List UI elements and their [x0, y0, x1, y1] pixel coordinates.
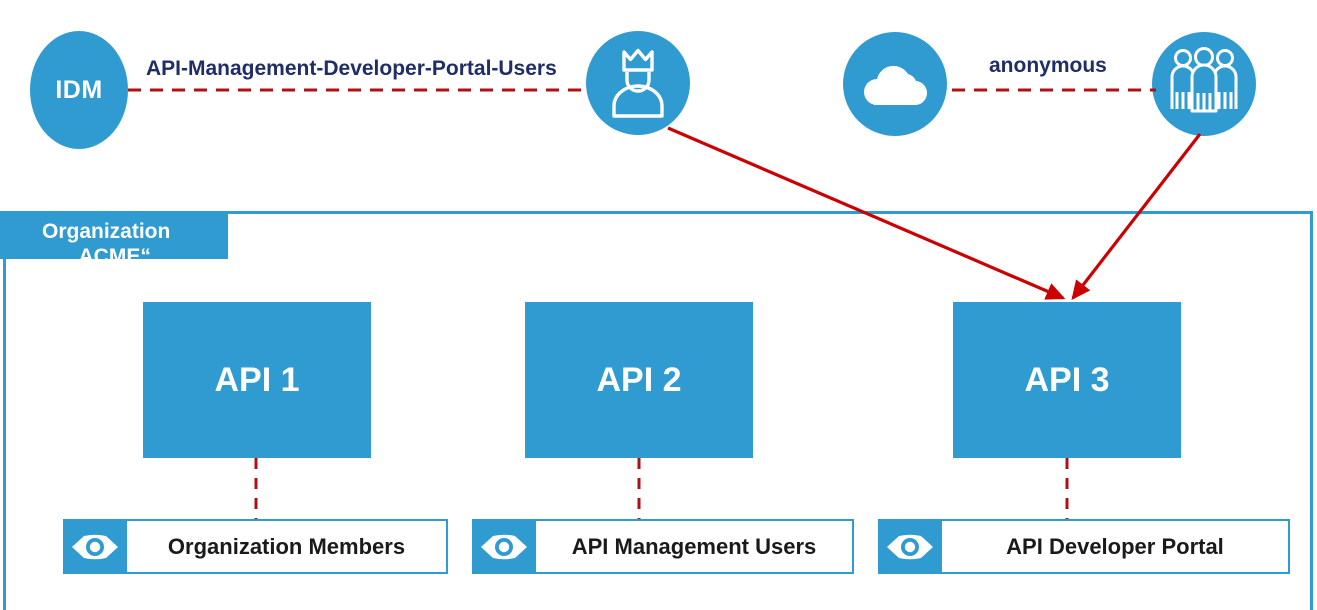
- cloud-icon: [860, 59, 930, 109]
- edge-label-cloud-to-anonymous: anonymous: [989, 55, 1107, 76]
- visibility-chip-label-2: API Management Users: [572, 536, 817, 558]
- eye-icon: [71, 532, 119, 562]
- visibility-icon-container-3: [878, 519, 942, 574]
- api-box-api3[interactable]: API 3: [953, 302, 1181, 458]
- visibility-icon-container-2: [472, 519, 536, 574]
- edge-label-idm-to-admin: API-Management-Developer-Portal-Users: [146, 58, 557, 79]
- visibility-icon-container-1: [63, 519, 127, 574]
- visibility-chip-organization-members[interactable]: Organization Members: [63, 519, 448, 574]
- crowned-user-icon: [608, 48, 668, 118]
- visibility-chip-label-3: API Developer Portal: [1006, 536, 1224, 558]
- visibility-chip-label-1: Organization Members: [168, 536, 405, 558]
- eye-icon: [886, 532, 934, 562]
- api-box-api2-label: API 2: [596, 363, 681, 397]
- api-box-api1[interactable]: API 1: [143, 302, 371, 458]
- organization-name-line1: Organization: [0, 219, 228, 244]
- organization-tab-label: Organization „ACME“: [0, 211, 228, 259]
- visibility-chip-api-management-users[interactable]: API Management Users: [472, 519, 854, 574]
- visibility-chip-api-developer-portal[interactable]: API Developer Portal: [878, 519, 1290, 574]
- node-idm-label: IDM: [55, 78, 102, 103]
- group-of-people-icon: [1166, 47, 1242, 121]
- visibility-label-box-3: API Developer Portal: [942, 519, 1290, 574]
- diagram-canvas: Organization „ACME“ IDM: [0, 0, 1317, 610]
- api-box-api2[interactable]: API 2: [525, 302, 753, 458]
- eye-icon: [480, 532, 528, 562]
- organization-name-line2: „ACME“: [0, 244, 228, 269]
- visibility-label-box-1: Organization Members: [127, 519, 448, 574]
- node-cloud[interactable]: [843, 32, 947, 136]
- api-box-api1-label: API 1: [214, 363, 299, 397]
- visibility-label-box-2: API Management Users: [536, 519, 854, 574]
- api-box-api3-label: API 3: [1024, 363, 1109, 397]
- node-anonymous-group[interactable]: [1152, 32, 1256, 136]
- node-idm[interactable]: IDM: [30, 31, 128, 149]
- node-admin-user[interactable]: [586, 31, 690, 135]
